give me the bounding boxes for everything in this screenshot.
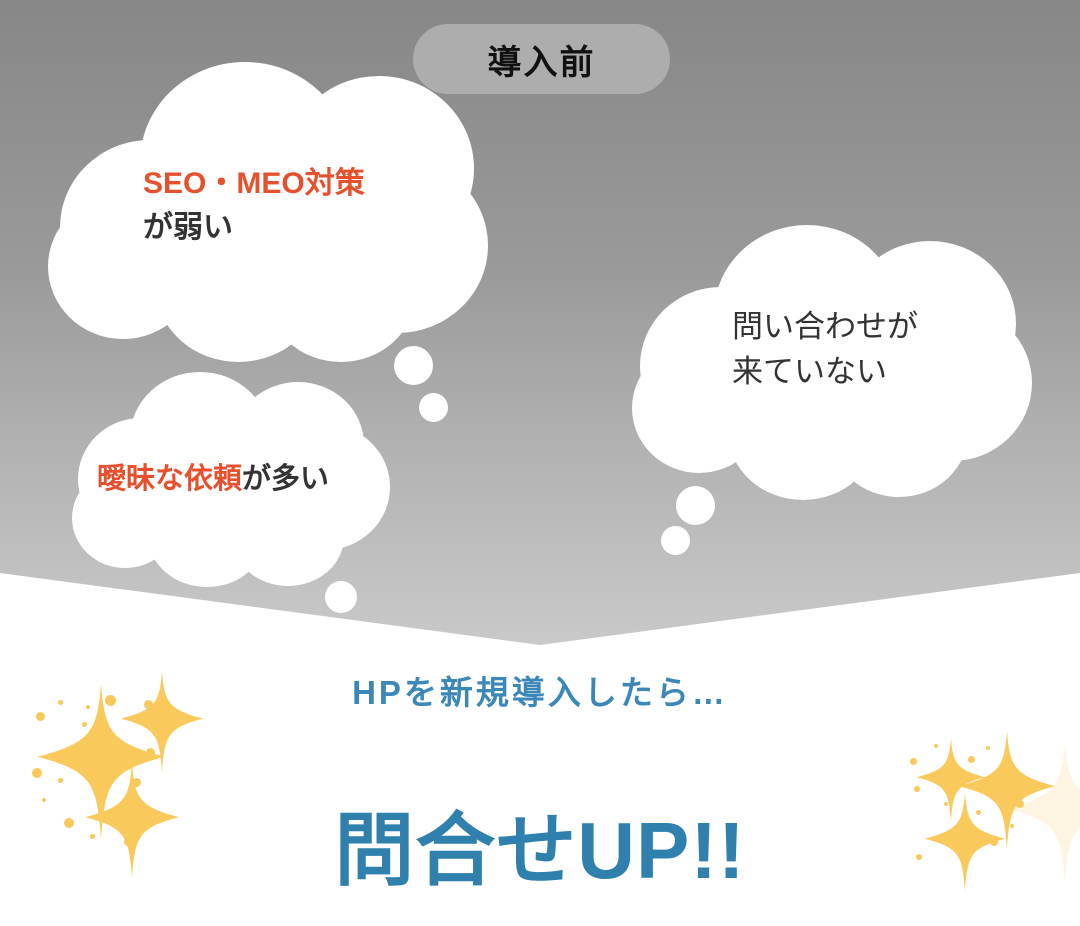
cloud-text-seo-meo: SEO・MEO対策 が弱い xyxy=(143,162,365,249)
cloud-text-vague-request: 曖昧な依頼が多い xyxy=(97,458,329,500)
sparkle-dot xyxy=(916,854,922,860)
sparkle-cluster-left xyxy=(20,670,220,900)
sparkle-dot xyxy=(1010,766,1016,772)
sparkle-icon xyxy=(120,670,204,774)
sparkle-icon-faded xyxy=(1006,740,1080,886)
cloud-plain-text: が多い xyxy=(242,463,329,495)
thought-tail-dot-small xyxy=(325,581,357,613)
sparkle-dot xyxy=(32,768,42,778)
sparkle-dot xyxy=(42,798,46,802)
sparkle-dot xyxy=(86,705,90,709)
sparkle-dot xyxy=(144,700,153,709)
sparkle-dot xyxy=(58,778,63,783)
cloud-highlight-text: 曖昧な依頼 xyxy=(97,463,242,495)
cloud-text-no-inquiry: 問い合わせが 来ていない xyxy=(732,305,918,395)
promo-banner: 導入前 SEO・MEO対策 が弱い 曖昧な依頼が多い 問い xyxy=(0,0,1080,926)
sparkle-dot xyxy=(58,700,63,705)
sparkle-dot xyxy=(90,834,95,839)
sparkle-dot xyxy=(910,758,917,765)
sparkle-dot xyxy=(108,740,114,746)
cloud-plain-text: が弱い xyxy=(143,211,233,244)
before-badge-label: 導入前 xyxy=(488,35,596,84)
sparkle-cluster-right xyxy=(910,730,1080,910)
sparkle-dot xyxy=(1016,800,1024,808)
sparkle-dot xyxy=(86,770,94,778)
sparkle-dot xyxy=(934,744,938,748)
sparkle-dot xyxy=(146,748,155,757)
sparkle-dot xyxy=(970,850,974,854)
sparkle-dot xyxy=(986,746,990,750)
sparkle-dot xyxy=(990,838,998,846)
sparkle-dot xyxy=(968,756,975,763)
thought-tail-dot-large xyxy=(394,346,433,385)
thought-tail-dot-large xyxy=(676,486,715,525)
sparkle-dot xyxy=(914,786,920,792)
thought-cloud-vague-request: 曖昧な依頼が多い xyxy=(72,372,392,587)
sparkle-dot xyxy=(82,722,87,727)
thought-cloud-seo-meo: SEO・MEO対策 が弱い xyxy=(48,62,488,362)
cloud-highlight-text: SEO・MEO対策 xyxy=(143,167,365,200)
sparkle-dot xyxy=(36,712,45,721)
sparkle-dot xyxy=(64,818,74,828)
sparkle-dot xyxy=(976,810,981,815)
sparkle-dot xyxy=(1010,824,1014,828)
sparkle-dot xyxy=(124,838,132,846)
cloud-plain-text: 問い合わせが 来ていない xyxy=(732,309,918,389)
thought-tail-dot-small xyxy=(419,393,448,422)
sparkle-dot xyxy=(944,802,948,806)
sparkle-dot xyxy=(132,778,141,787)
sparkle-dot xyxy=(105,695,116,706)
thought-tail-dot-small xyxy=(661,526,690,555)
thought-cloud-no-inquiry: 問い合わせが 来ていない xyxy=(632,225,1032,500)
